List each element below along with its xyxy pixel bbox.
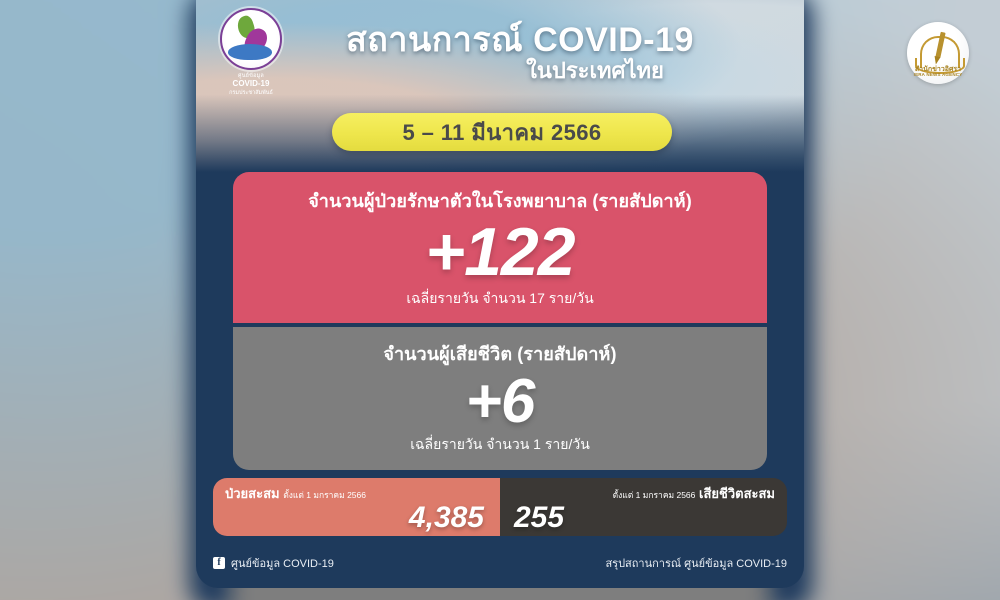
cumulative-deaths-value: 255 <box>514 501 564 535</box>
cumulative-cases-label: ป่วยสะสม ตั้งแต่ 1 มกราคม 2566 <box>225 483 366 504</box>
cumulative-bar: ป่วยสะสม ตั้งแต่ 1 มกราคม 2566 4,385 ตั้… <box>213 478 787 536</box>
cumulative-cases-value: 4,385 <box>409 501 484 535</box>
date-range-text: 5 – 11 มีนาคม 2566 <box>402 115 601 150</box>
logo-left-line2: COVID-19 <box>212 80 290 89</box>
date-range-badge: 5 – 11 มีนาคม 2566 <box>332 113 672 151</box>
deaths-value: +6 <box>233 372 767 433</box>
deaths-average: เฉลี่ยรายวัน จำนวน 1 ราย/วัน <box>233 434 767 456</box>
cumulative-deaths-box: ตั้งแต่ 1 มกราคม 2566 เสียชีวิตสะสม 255 <box>500 478 787 536</box>
statistics-panels: จำนวนผู้ป่วยรักษาตัวในโรงพยาบาล (รายสัปด… <box>233 172 767 470</box>
cumulative-deaths-since: ตั้งแต่ 1 มกราคม 2566 <box>613 490 696 500</box>
isra-news-agency-logo: สำนักข่าวอิศรา ISRA NEWS AGENCY <box>903 22 973 84</box>
deaths-title: จำนวนผู้เสียชีวิต (รายสัปดาห์) <box>233 339 767 368</box>
cumulative-deaths-label: ตั้งแต่ 1 มกราคม 2566 เสียชีวิตสะสม <box>613 483 775 504</box>
covid-data-center-logo: ศูนย์ข้อมูล COVID-19 กรมประชาสัมพันธ์ <box>212 8 290 97</box>
hospitalized-panel: จำนวนผู้ป่วยรักษาตัวในโรงพยาบาล (รายสัปด… <box>233 172 767 323</box>
facebook-page-name: ศูนย์ข้อมูล COVID-19 <box>231 554 334 572</box>
hospitalized-title: จำนวนผู้ป่วยรักษาตัวในโรงพยาบาล (รายสัปด… <box>233 186 767 215</box>
hospitalized-value: +122 <box>233 219 767 286</box>
isra-name-en: ISRA NEWS AGENCY <box>907 72 969 77</box>
infographic-stage: ศูนย์ข้อมูล COVID-19 กรมประชาสัมพันธ์ สถ… <box>0 0 1000 600</box>
poster-card: ศูนย์ข้อมูล COVID-19 กรมประชาสัมพันธ์ สถ… <box>196 0 804 588</box>
deaths-panel: จำนวนผู้เสียชีวิต (รายสัปดาห์) +6 เฉลี่ย… <box>233 327 767 471</box>
cumulative-cases-label-text: ป่วยสะสม <box>225 486 280 501</box>
cumulative-cases-box: ป่วยสะสม ตั้งแต่ 1 มกราคม 2566 4,385 <box>213 478 500 536</box>
facebook-icon: f <box>213 557 225 569</box>
cumulative-cases-since: ตั้งแต่ 1 มกราคม 2566 <box>283 490 366 500</box>
logo-left-line3: กรมประชาสัมพันธ์ <box>212 89 290 97</box>
source-credit: สรุปสถานการณ์ ศูนย์ข้อมูล COVID-19 <box>605 554 787 572</box>
facebook-credit[interactable]: f ศูนย์ข้อมูล COVID-19 <box>213 554 334 572</box>
isra-logo-emblem-icon: สำนักข่าวอิศรา ISRA NEWS AGENCY <box>907 22 969 84</box>
poster-footer: f ศูนย์ข้อมูล COVID-19 สรุปสถานการณ์ ศูน… <box>213 552 787 574</box>
hospitalized-average: เฉลี่ยรายวัน จำนวน 17 ราย/วัน <box>233 288 767 310</box>
logo-emblem-icon <box>220 8 282 70</box>
cumulative-deaths-label-text: เสียชีวิตสะสม <box>699 486 775 501</box>
